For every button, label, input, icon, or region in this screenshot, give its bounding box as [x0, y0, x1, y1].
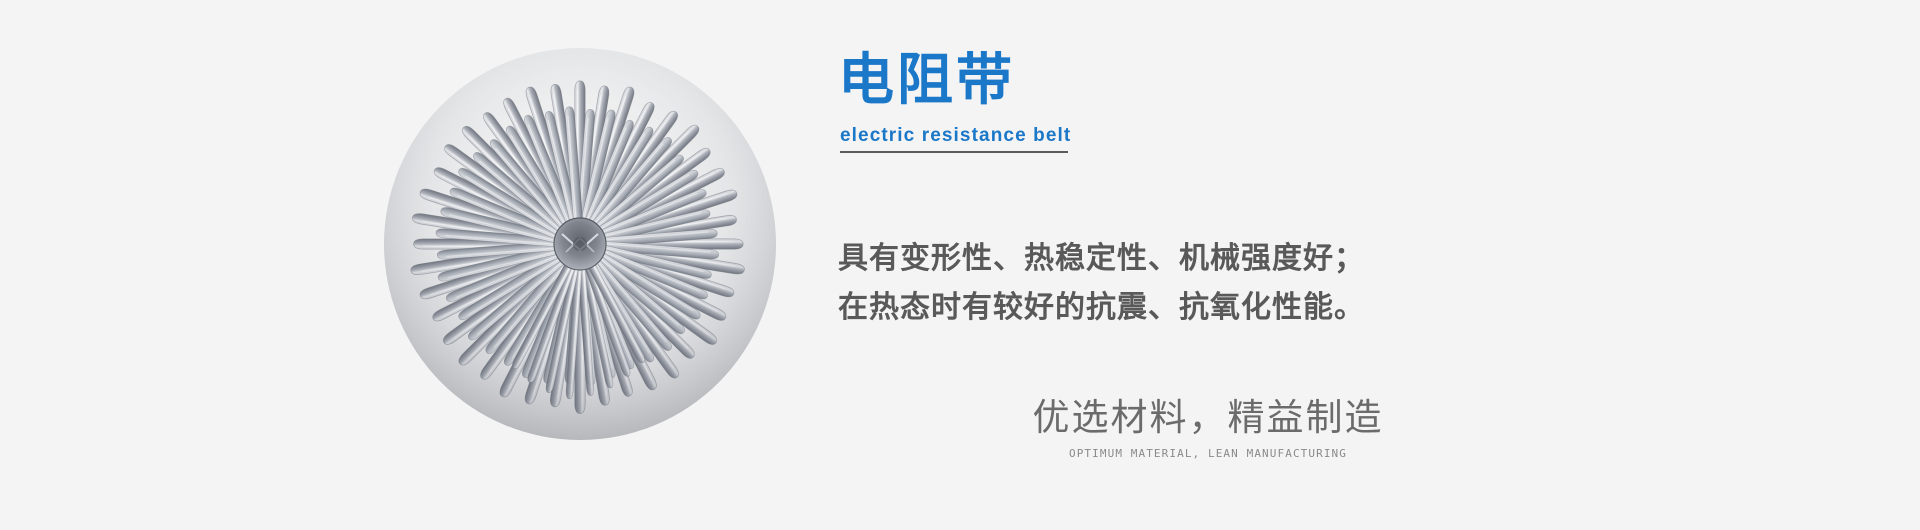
product-banner: 电阻带 electric resistance belt 具有变形性、热稳定性、… [0, 0, 1920, 530]
page-title: 电阻带 [838, 48, 1358, 112]
page-subtitle: electric resistance belt [840, 124, 1358, 148]
description-line-1: 具有变形性、热稳定性、机械强度好； [838, 234, 1478, 283]
slogan-english: OPTIMUM MATERIAL, LEAN MANUFACTURING [948, 446, 1468, 462]
title-block: 电阻带 electric resistance belt [838, 48, 1358, 148]
description-line-2: 在热态时有较好的抗震、抗氧化性能。 [838, 283, 1478, 332]
slogan-block: 优选材料，精益制造 OPTIMUM MATERIAL, LEAN MANUFAC… [948, 395, 1468, 462]
product-image [368, 48, 792, 468]
text-column: 电阻带 electric resistance belt 具有变形性、热稳定性、… [838, 0, 1838, 530]
slogan-chinese: 优选材料，精益制造 [948, 395, 1468, 441]
title-divider [840, 151, 1068, 153]
description-block: 具有变形性、热稳定性、机械强度好； 在热态时有较好的抗震、抗氧化性能。 [838, 234, 1478, 332]
